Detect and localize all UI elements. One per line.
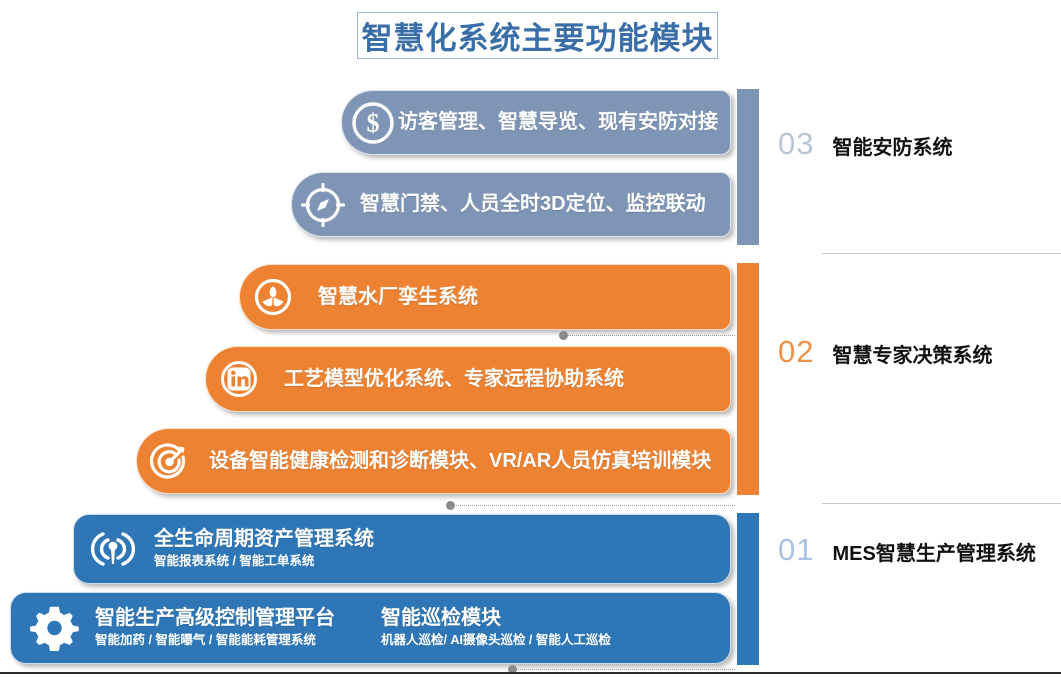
bar-control-subtitle: 智能加药 / 智能曝气 / 智能能耗管理系统 [95,632,335,648]
bar-process-model[interactable]: 工艺模型优化系统、专家远程协助系统 [205,346,731,412]
bar-asset-subtitle: 智能报表系统 / 智能工单系统 [154,553,374,569]
spine-group-02 [736,262,760,496]
dollar-circle-icon: $ [350,100,396,146]
connector-dotted-bottom [512,669,735,670]
legend-label-01: MES智慧生产管理系统 [832,544,1035,564]
legend-item-01[interactable]: 01 MES智慧生产管理系统 [778,534,1036,565]
connector-dotted-02 [563,335,735,336]
bar-twin-text: 智慧水厂孪生系统 [318,286,478,309]
legend-label-03: 智能安防系统 [832,138,952,158]
spine-group-01 [736,512,760,666]
bar-control-platform[interactable]: 智能生产高级控制管理平台 智能加药 / 智能曝气 / 智能能耗管理系统 智能巡检… [10,592,731,664]
gear-icon [29,602,81,654]
compass-icon [300,182,346,228]
bar-model-title: 工艺模型优化系统、专家远程协助系统 [284,368,624,391]
linkedin-in-icon [216,356,262,402]
bar-device-text: 设备智能健康检测和诊断模块、VR/AR人员仿真培训模块 [209,450,711,473]
legend-number-01: 01 [778,534,814,565]
bar-visitor-title: 访客管理、智慧导览、现有安防对接 [398,111,718,134]
bar-asset-text: 全生命周期资产管理系统 智能报表系统 / 智能工单系统 [154,528,374,569]
page-title: 智慧化系统主要功能模块 [362,13,714,58]
page-title-box: 智慧化系统主要功能模块 [357,12,718,59]
bar-twin-title: 智慧水厂孪生系统 [318,286,478,309]
bottom-rule [0,672,1061,674]
connector-dotted-01 [450,505,735,506]
legend-label-02: 智慧专家决策系统 [832,346,992,366]
legend-number-03: 03 [778,128,814,159]
svg-text:$: $ [367,108,380,137]
legend-item-02[interactable]: 02 智慧专家决策系统 [778,336,992,367]
bar-visitor-text: 访客管理、智慧导览、现有安防对接 [398,111,718,134]
bar-access-control[interactable]: 智慧门禁、人员全时3D定位、监控联动 [291,172,731,237]
bar-inspection-title: 智能巡检模块 [381,607,611,630]
connector-dot [446,501,455,510]
legend-separator-middle [822,503,1061,504]
bar-digital-twin[interactable]: 智慧水厂孪生系统 [239,264,731,330]
bar-access-title: 智慧门禁、人员全时3D定位、监控联动 [360,193,706,216]
bar-control-title: 智能生产高级控制管理平台 [95,607,335,630]
legend-item-03[interactable]: 03 智能安防系统 [778,128,952,159]
slide-canvas: 智慧化系统主要功能模块 $ 访客管理、智慧导览、现有安防对接 智慧门 [0,0,1061,678]
spine-group-03 [736,88,760,246]
target-dart-icon [147,438,193,484]
bar-control-text-group2: 智能巡检模块 机器人巡检/ AI摄像头巡检 / 智能人工巡检 [381,607,611,648]
bar-access-text: 智慧门禁、人员全时3D定位、监控联动 [360,193,706,216]
legend-number-02: 02 [778,336,814,367]
bar-device-health[interactable]: 设备智能健康检测和诊断模块、VR/AR人员仿真培训模块 [136,428,731,494]
bar-control-text-group1: 智能生产高级控制管理平台 智能加药 / 智能曝气 / 智能能耗管理系统 [95,607,335,648]
bar-visitor-management[interactable]: $ 访客管理、智慧导览、现有安防对接 [341,90,731,155]
bar-asset-title: 全生命周期资产管理系统 [154,528,374,551]
broadcast-signal-icon [88,524,138,574]
bar-asset-management[interactable]: 全生命周期资产管理系统 智能报表系统 / 智能工单系统 [73,514,731,584]
bar-inspection-subtitle: 机器人巡检/ AI摄像头巡检 / 智能人工巡检 [381,632,611,648]
recycle-fan-icon [250,274,296,320]
connector-dot [559,331,568,340]
bar-model-text: 工艺模型优化系统、专家远程协助系统 [284,368,624,391]
legend-separator-top [822,253,1061,254]
bar-device-title: 设备智能健康检测和诊断模块、VR/AR人员仿真培训模块 [209,450,711,473]
